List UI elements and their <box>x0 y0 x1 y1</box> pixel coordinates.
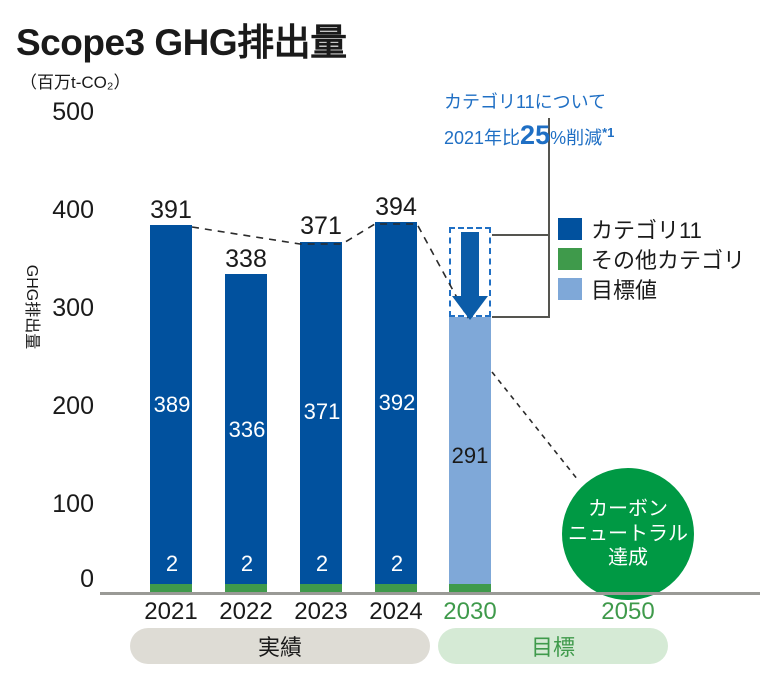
period-band-actual-label: 実績 <box>258 630 302 662</box>
y-tick-200: 200 <box>22 392 94 421</box>
legend-label-other-category: その他カテゴリ <box>591 243 745 275</box>
carbon-neutral-badge: カーボン ニュートラル 達成 <box>562 468 694 600</box>
bar-2023-other <box>300 584 342 592</box>
bar-value-2030-target: 291 <box>447 443 493 469</box>
bar-value-2021-other: 2 <box>151 551 193 577</box>
bar-total-2022: 338 <box>206 245 286 274</box>
legend-swatch-icon-other-category <box>558 248 582 270</box>
carbon-neutral-line3: 達成 <box>608 546 648 570</box>
x-tick-2024: 2024 <box>356 598 436 626</box>
reduction-callout-line1: カテゴリ11について <box>444 88 614 114</box>
reduction-callout-line2: 2021年比25%削減*1 <box>444 120 614 151</box>
bar-value-2021-category11: 389 <box>151 392 193 418</box>
reduction-bracket <box>492 234 550 318</box>
period-band-target: 目標 <box>438 628 668 664</box>
bar-value-2022-category11: 336 <box>226 417 268 443</box>
chart-legend: カテゴリ11 その他カテゴリ 目標値 <box>558 214 745 304</box>
bar-value-2023-other: 2 <box>301 551 343 577</box>
x-axis-line <box>100 592 760 595</box>
x-tick-2030: 2030 <box>430 598 510 626</box>
legend-swatch-icon-category11 <box>558 218 582 240</box>
legend-item-other-category[interactable]: その他カテゴリ <box>558 244 745 274</box>
carbon-neutral-line2: ニュートラル <box>568 522 688 546</box>
x-tick-2022: 2022 <box>206 598 286 626</box>
y-axis-title: GHG排出量 <box>22 252 46 362</box>
reduction-suffix: 削減 <box>566 128 602 148</box>
reduction-dashed-box <box>449 227 491 317</box>
reduction-callout: カテゴリ11について 2021年比25%削減*1 <box>444 88 614 151</box>
legend-label-category11: カテゴリ11 <box>591 213 702 245</box>
bar-total-2023: 371 <box>281 212 361 241</box>
y-tick-0: 0 <box>22 565 94 594</box>
legend-item-category11[interactable]: カテゴリ11 <box>558 214 745 244</box>
y-tick-400: 400 <box>22 196 94 225</box>
period-band-actual: 実績 <box>130 628 430 664</box>
unit-label: （百万t-CO₂） <box>20 68 130 93</box>
bar-2022-other <box>225 584 267 592</box>
reduction-emphasis-unit: % <box>550 128 566 148</box>
x-tick-2023: 2023 <box>281 598 361 626</box>
bar-value-2022-other: 2 <box>226 551 268 577</box>
legend-swatch-icon-target-value <box>558 278 582 300</box>
legend-item-target-value[interactable]: 目標値 <box>558 274 745 304</box>
y-tick-500: 500 <box>22 98 94 127</box>
x-tick-2050: 2050 <box>588 598 668 626</box>
chart-root: Scope3 GHG排出量 （百万t-CO₂） 500 400 300 200 … <box>0 0 774 678</box>
period-band-target-label: 目標 <box>531 630 575 662</box>
bar-2024-other <box>375 584 417 592</box>
bar-value-2024-category11: 392 <box>376 390 418 416</box>
bar-2030-other <box>449 584 491 592</box>
legend-label-target-value: 目標値 <box>591 273 657 305</box>
bar-total-2021: 391 <box>131 196 211 225</box>
x-tick-2021: 2021 <box>131 598 211 626</box>
reduction-emphasis: 25 <box>520 120 550 150</box>
bar-value-2024-other: 2 <box>376 551 418 577</box>
page-title: Scope3 GHG排出量 <box>16 12 347 66</box>
carbon-neutral-line1: カーボン <box>588 497 668 521</box>
bar-2021-other <box>150 584 192 592</box>
y-tick-100: 100 <box>22 490 94 519</box>
reduction-prefix: 2021年比 <box>444 128 520 148</box>
reduction-footnote-marker: *1 <box>602 125 614 140</box>
bar-value-2023-category11: 371 <box>301 399 343 425</box>
bar-total-2024: 394 <box>356 193 436 222</box>
